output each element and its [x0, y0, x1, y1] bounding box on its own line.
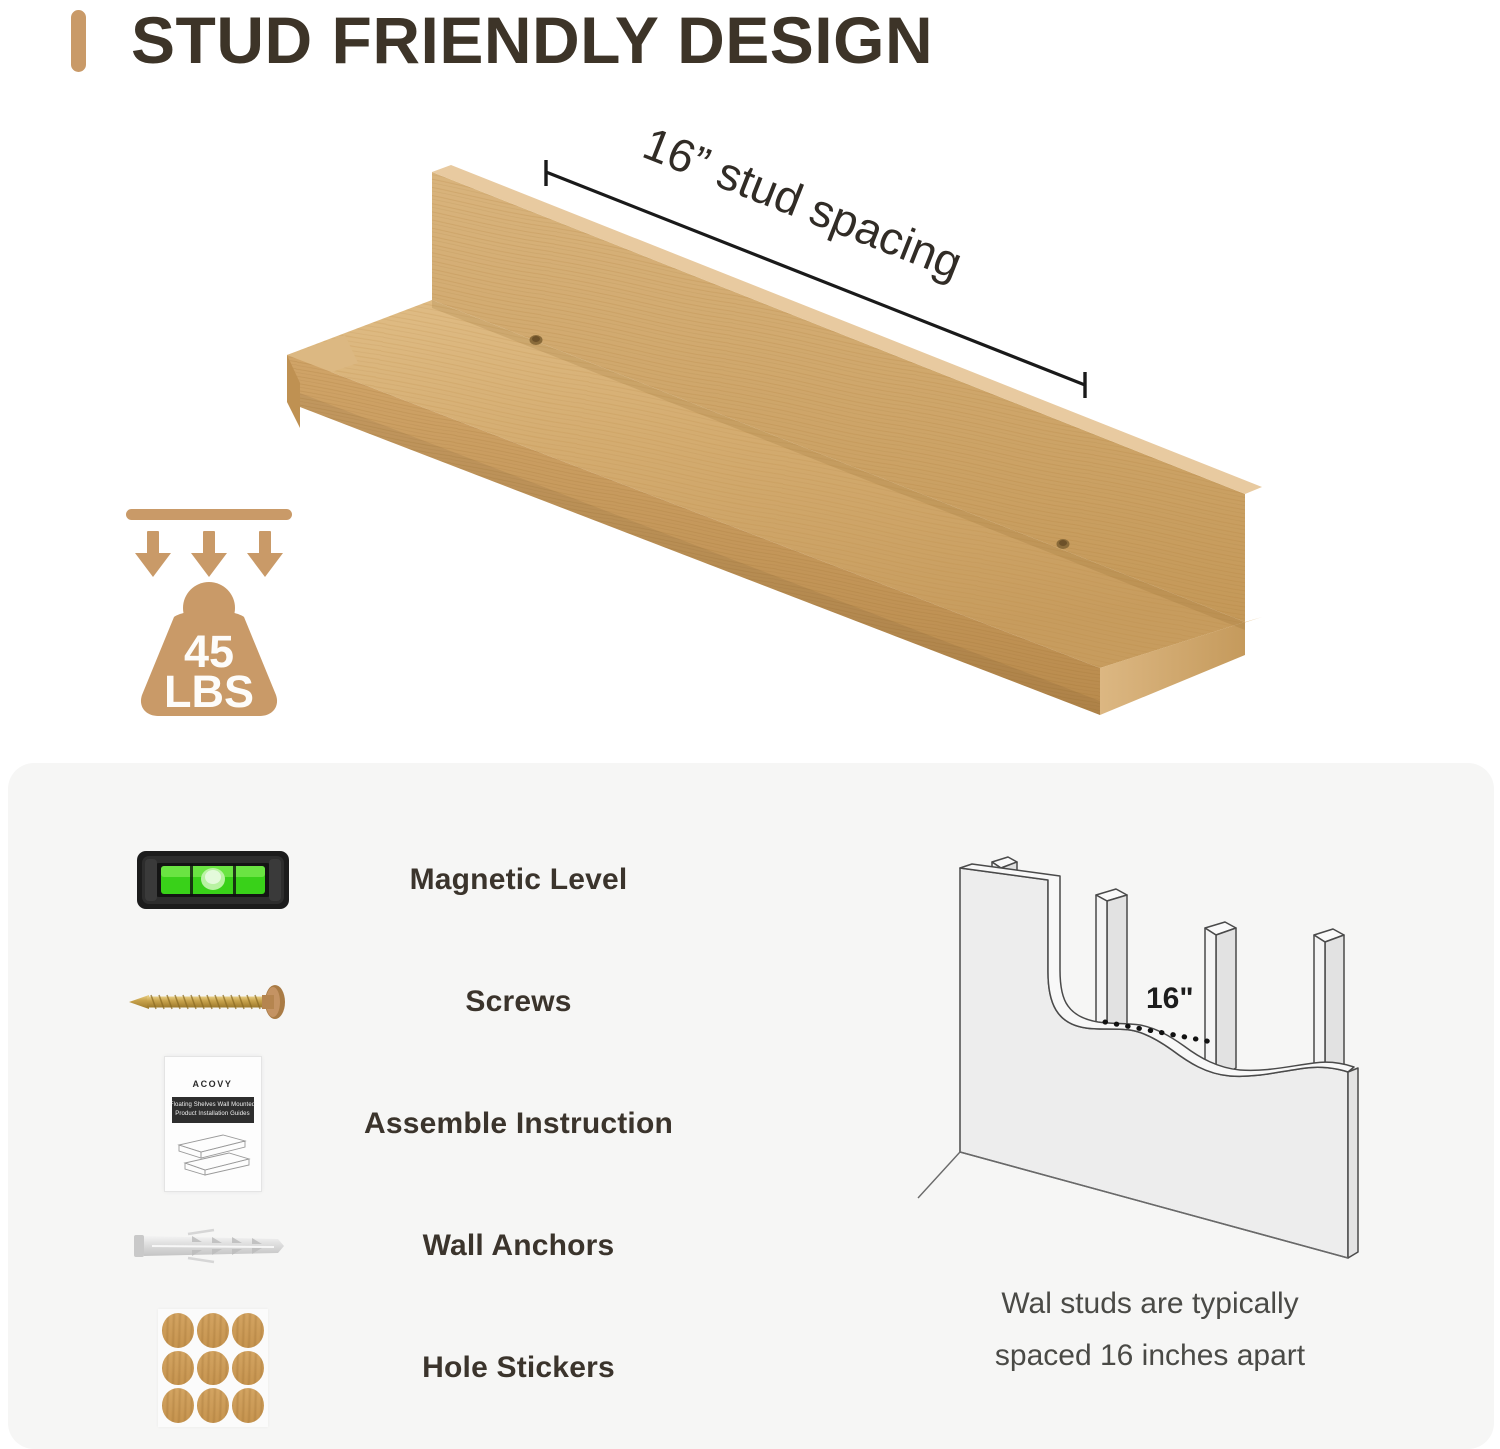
- sticker-dot: [197, 1388, 229, 1423]
- list-item: Screws: [120, 942, 760, 1062]
- sticker-dot: [232, 1388, 264, 1423]
- stud-4: [1314, 929, 1344, 1078]
- sticker-dot: [162, 1388, 194, 1423]
- list-item: Magnetic Level: [120, 820, 760, 940]
- booklet-line-1: Floating Shelves Wall Mounted: [170, 1101, 255, 1110]
- hole-stickers-icon: [120, 1308, 305, 1428]
- stud-diagram-caption: Wal studs are typically spaced 16 inches…: [900, 1278, 1400, 1382]
- wall-anchor-icon: [120, 1186, 305, 1306]
- accessory-label: Wall Anchors: [305, 1229, 760, 1263]
- sticker-dot: [232, 1313, 264, 1348]
- list-item: Hole Stickers: [120, 1308, 760, 1428]
- sticker-dot: [162, 1313, 194, 1348]
- header: STUD FRIENDLY DESIGN: [0, 0, 1500, 120]
- screw-icon: [120, 942, 305, 1062]
- booklet-line-2: Product Installation Guides: [175, 1110, 249, 1119]
- weight-unit: LBS: [164, 666, 254, 717]
- accessories-list: Magnetic Level: [120, 820, 760, 1440]
- caption-line-1: Wal studs are typically: [900, 1278, 1400, 1330]
- sticker-dot: [197, 1313, 229, 1348]
- load-arrows-icon: [135, 531, 283, 577]
- accessory-label: Screws: [305, 985, 760, 1019]
- drywall-front-face: [960, 868, 1348, 1258]
- accessory-label: Assemble Instruction: [305, 1107, 760, 1141]
- booklet-title-band: Floating Shelves Wall Mounted Product In…: [172, 1097, 254, 1123]
- stud-3: [1205, 922, 1236, 1078]
- list-item: Wall Anchors: [120, 1186, 760, 1306]
- magnetic-level-icon: [120, 820, 305, 940]
- accent-bar-icon: [71, 10, 86, 72]
- infographic-page: STUD FRIENDLY DESIGN: [0, 0, 1500, 1449]
- accessory-label: Magnetic Level: [305, 863, 760, 897]
- drywall-right-edge: [1348, 1068, 1358, 1258]
- booklet-shelf-art: [175, 1131, 251, 1177]
- page-title: STUD FRIENDLY DESIGN: [131, 2, 933, 78]
- accessory-label: Hole Stickers: [305, 1351, 760, 1385]
- load-bar-icon: [126, 509, 292, 520]
- caption-line-2: spaced 16 inches apart: [900, 1330, 1400, 1382]
- wall-stud-diagram: 16": [900, 840, 1390, 1285]
- list-item: ACOVY Floating Shelves Wall Mounted Prod…: [120, 1064, 760, 1184]
- instruction-booklet-icon: ACOVY Floating Shelves Wall Mounted Prod…: [120, 1064, 305, 1184]
- sticker-dot: [232, 1351, 264, 1386]
- booklet-brand: ACOVY: [165, 1079, 261, 1089]
- sticker-dot: [197, 1351, 229, 1386]
- sticker-dot: [162, 1351, 194, 1386]
- weight-capacity-badge: 45 LBS: [108, 495, 328, 720]
- stud-spacing-label: 16": [1146, 982, 1194, 1015]
- sticker-sheet: [158, 1309, 268, 1427]
